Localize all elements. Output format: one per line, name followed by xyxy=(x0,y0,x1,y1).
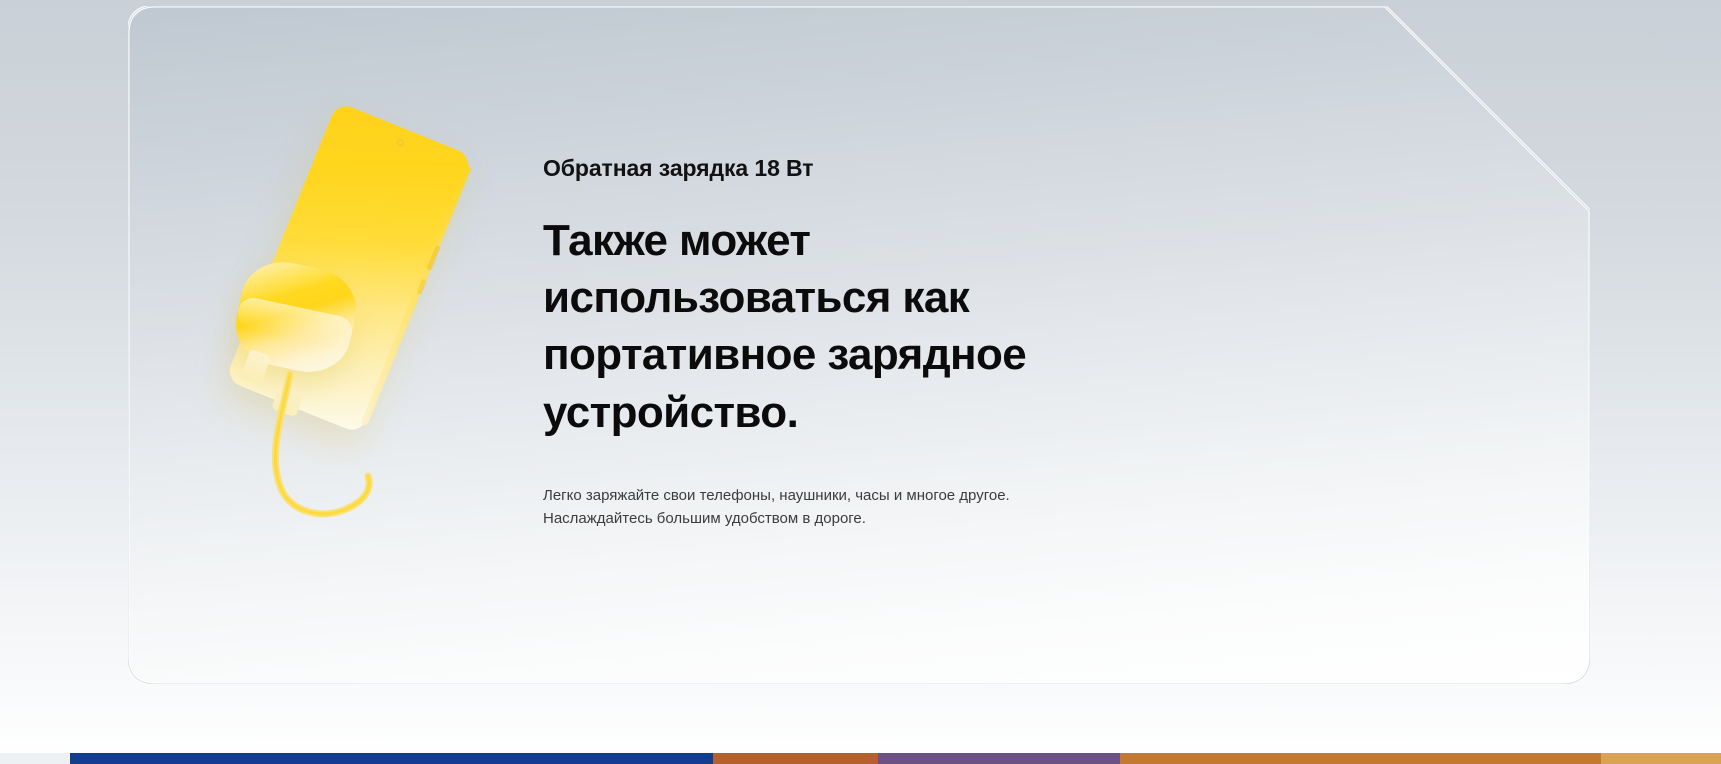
strip-segment-purple-bar xyxy=(878,753,1120,764)
bottom-color-strip xyxy=(0,753,1721,764)
charging-cable-icon xyxy=(232,368,472,528)
phone-camera-icon xyxy=(396,138,405,147)
page-title: Также может использоваться как портативн… xyxy=(543,212,1183,441)
product-image xyxy=(232,118,532,528)
copy-block: Обратная зарядка 18 Вт Также может испол… xyxy=(543,155,1183,530)
strip-segment-orange-bar-1 xyxy=(713,753,878,764)
strip-segment-orange-bar-2 xyxy=(1120,753,1601,764)
strip-segment-spacer-left xyxy=(0,753,70,764)
eyebrow-label: Обратная зарядка 18 Вт xyxy=(543,155,1183,182)
body-text: Легко заряжайте свои телефоны, наушники,… xyxy=(543,485,1183,531)
strip-segment-blue-bar xyxy=(70,753,713,764)
earbuds-case-highlight xyxy=(235,295,355,350)
strip-segment-spacer-right xyxy=(1601,753,1721,764)
